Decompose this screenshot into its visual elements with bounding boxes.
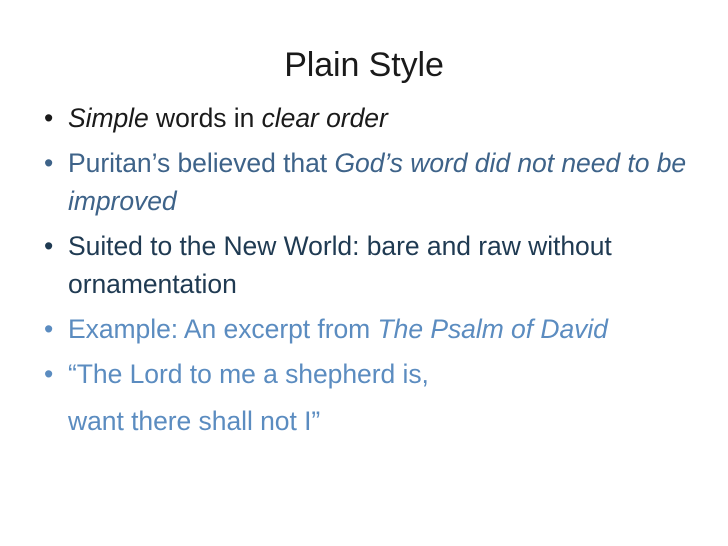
bullet-item-label: Example: An excerpt from The Psalm of Da… xyxy=(68,310,700,348)
bullet-segment-italic: Simple xyxy=(68,103,149,133)
bullet-segment-regular: “The Lord to me a shepherd is, xyxy=(68,359,429,389)
bullet-item-label: Simple words in clear order xyxy=(68,99,700,137)
bullet-segment-regular: Example: An excerpt from xyxy=(68,314,378,344)
bullet-segment-regular: words in xyxy=(149,103,262,133)
bullet-item-label: “The Lord to me a shepherd is, xyxy=(68,355,700,393)
slide-canvas: Plain Style • Simple words in clear orde… xyxy=(0,0,728,546)
quote-continuation-line: want there shall not I” xyxy=(28,402,700,440)
bullet-point-icon: • xyxy=(44,355,53,393)
bullet-point-icon: • xyxy=(44,310,53,348)
list-item: • “The Lord to me a shepherd is, xyxy=(28,355,700,393)
bullet-segment-regular: Puritan’s believed that xyxy=(68,148,334,178)
bullet-item-label: Suited to the New World: bare and raw wi… xyxy=(68,227,700,303)
bullet-item-label: Puritan’s believed that God’s word did n… xyxy=(68,144,700,220)
list-item: • Example: An excerpt from The Psalm of … xyxy=(28,310,700,348)
list-item: • Suited to the New World: bare and raw … xyxy=(28,227,700,303)
bullet-point-icon: • xyxy=(44,227,53,265)
page-title: Plain Style xyxy=(0,44,728,86)
bullet-segment-italic: clear order xyxy=(262,103,388,133)
list-item: • Simple words in clear order xyxy=(28,99,700,137)
bullet-segment-regular: Suited to the New World: bare and raw wi… xyxy=(68,231,612,299)
bullet-point-icon: • xyxy=(44,99,53,137)
bullet-list: • Simple words in clear order • Puritan’… xyxy=(28,99,700,440)
bullet-segment-italic: The Psalm of David xyxy=(378,314,608,344)
bullet-point-icon: • xyxy=(44,144,53,182)
list-item: • Puritan’s believed that God’s word did… xyxy=(28,144,700,220)
